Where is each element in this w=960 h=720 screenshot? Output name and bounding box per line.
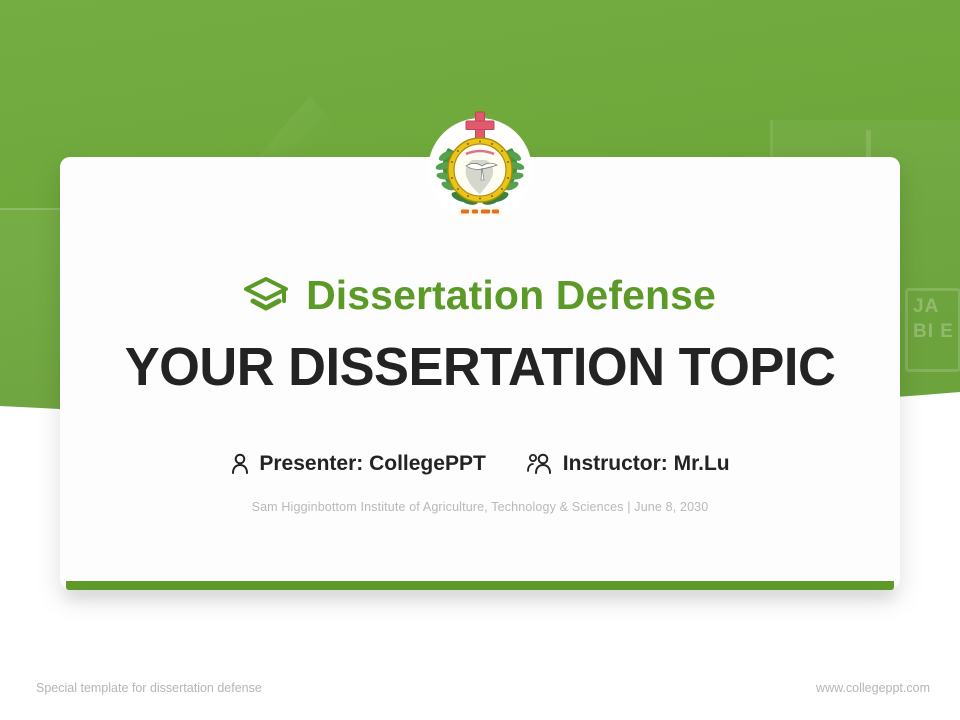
credits-row: Presenter: CollegePPT Instructor: Mr.Lu <box>0 452 960 476</box>
presentation-slide: JA BI E <box>0 0 960 720</box>
footer-right-url[interactable]: www.collegeppt.com <box>816 681 930 695</box>
graduation-cap-icon <box>244 276 290 316</box>
page-title: YOUR DISSERTATION TOPIC <box>14 336 945 398</box>
people-group-icon <box>526 452 554 476</box>
presenter-credit: Presenter: CollegePPT <box>230 452 485 476</box>
eyebrow-heading-row: Dissertation Defense <box>0 272 960 319</box>
person-icon <box>230 452 250 476</box>
presenter-label: Presenter: CollegePPT <box>259 452 485 476</box>
university-crest-logo <box>420 104 540 224</box>
institution-line: Sam Higginbottom Institute of Agricultur… <box>0 500 960 514</box>
footer-left-text: Special template for dissertation defens… <box>36 681 262 695</box>
instructor-credit: Instructor: Mr.Lu <box>526 452 730 476</box>
eyebrow-title: Dissertation Defense <box>306 272 716 319</box>
card-accent-bar <box>66 581 894 590</box>
instructor-label: Instructor: Mr.Lu <box>563 452 730 476</box>
crest-emblem-icon <box>420 104 540 224</box>
